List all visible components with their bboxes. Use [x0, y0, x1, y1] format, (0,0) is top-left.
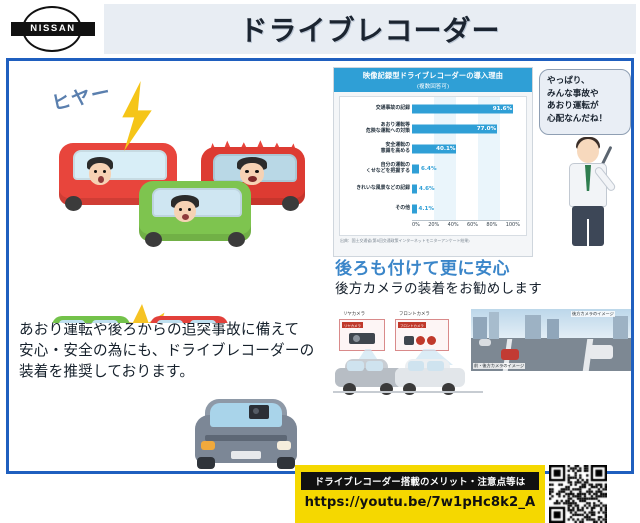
speech-bubble: やっぱり、 みんな事故や あおり運転が 心配なんだね！: [539, 69, 631, 135]
chart-bar-track: 77.0%: [412, 121, 526, 137]
car-with-dashcam: [191, 397, 301, 469]
nissan-wordmark: NISSAN: [11, 22, 95, 36]
chart-x-axis: 0%20%40%60%80%100%: [412, 222, 520, 234]
chart-bar: [412, 205, 417, 214]
page-title: ドライブレコーダー: [239, 9, 500, 49]
chart-card: 映像記録型ドライブレコーダーの導入理由 (複数回答可) 交通事故の記録91.6%…: [333, 67, 533, 257]
green-car-scared: [139, 181, 251, 241]
chart-bar-row: 交通事故の記録91.6%: [340, 101, 526, 117]
chart-bar-row: 安全運転の意識を高める40.1%: [340, 141, 526, 157]
bubble-line-3: あおり運転が: [547, 100, 626, 113]
chart-bar-row: その他4.1%: [340, 201, 526, 217]
title-bar: ドライブレコーダー: [104, 4, 636, 54]
page-header: NISSAN ドライブレコーダー: [0, 0, 640, 58]
chart-bar-value: 4.6%: [419, 186, 435, 192]
chart-plot: 交通事故の記録91.6%あおり運転等危険な運転への対策77.0%安全運転の意識を…: [339, 96, 527, 236]
chart-x-tick: 100%: [506, 222, 520, 234]
chart-x-tick: 0%: [412, 222, 420, 234]
front-camera-callout: フロントカメラ: [395, 319, 449, 351]
lightning-bolt-icon: [114, 81, 160, 151]
rear-camera-label: リヤカメラ: [343, 311, 365, 317]
presenter-figure: [557, 139, 619, 255]
chart-bar-track: 4.6%: [412, 181, 526, 197]
dashcam-device-icon: [249, 405, 269, 419]
chart-bar-row: あおり運転等危険な運転への対策77.0%: [340, 121, 526, 137]
photo-rear-caption: 後方カメラのイメージ: [571, 311, 615, 317]
chart-bar: [412, 185, 417, 194]
chart-bar-value: 4.1%: [419, 206, 435, 212]
chart-x-tick: 20%: [428, 222, 439, 234]
rear-camera-tag: リヤカメラ: [342, 322, 363, 328]
chart-bar-label: 交通事故の記録: [340, 106, 412, 112]
chart-bar-track: 40.1%: [412, 141, 526, 157]
chart-bar-label: その他: [340, 206, 412, 212]
chart-bar-track: 91.6%: [412, 101, 526, 117]
chart-bar: [412, 165, 419, 174]
chart-bar-value: 77.0%: [477, 126, 496, 132]
main-panel: ヒヤー: [6, 58, 634, 474]
chart-x-tick: 60%: [467, 222, 478, 234]
copy-line-3: 装着を推奨しております。: [19, 361, 337, 382]
mid-headline-secondary: 後方カメラの装着をお勧めします: [335, 281, 635, 298]
green-car-collision: [33, 316, 151, 323]
bubble-line-4: 心配なんだね！: [547, 113, 626, 126]
video-banner[interactable]: ドライブレコーダー搭載のメリット・注意点等は https://youtu.be/…: [295, 465, 545, 523]
chart-bar-value: 6.4%: [421, 166, 437, 172]
photo-rear-camera: 後方カメラのイメージ: [545, 309, 631, 371]
photo-dual-camera: 前・後方カメラのイメージ: [471, 309, 545, 371]
front-camera-tag: フロントカメラ: [398, 322, 426, 328]
chart-source: 出典：国土交通省(第8回交通政策インターネットモニターアンケート結果): [334, 236, 532, 243]
chart-bar-track: 6.4%: [412, 161, 526, 177]
chart-bar-track: 4.1%: [412, 201, 526, 217]
chart-bar-label: 自分の運転のくせなどを把握する: [340, 163, 412, 174]
vehicle-rear-view: [335, 359, 403, 391]
chart-bar-value: 91.6%: [493, 106, 512, 112]
chart-bar-row: きれいな風景などの記録4.6%: [340, 181, 526, 197]
bubble-line-2: みんな事故や: [547, 88, 626, 101]
chart-bar-value: 40.1%: [436, 146, 455, 152]
front-camera-label: フロントカメラ: [399, 311, 430, 317]
chart-x-tick: 40%: [448, 222, 459, 234]
qr-code[interactable]: [549, 465, 607, 523]
chart-bar-row: 自分の運転のくせなどを把握する6.4%: [340, 161, 526, 177]
nissan-logo: NISSAN: [6, 4, 100, 54]
banner-headline: ドライブレコーダー搭載のメリット・注意点等は: [301, 472, 539, 490]
chart-bar-label: あおり運転等危険な運転への対策: [340, 123, 412, 134]
chart-bar-label: 安全運転の意識を高める: [340, 143, 412, 154]
chart-header: 映像記録型ドライブレコーダーの導入理由 (複数回答可): [334, 68, 532, 92]
rear-camera-callout: リヤカメラ: [339, 319, 385, 351]
camera-diagram: リヤカメラ リヤカメラ フロントカメラ フロントカメラ: [333, 307, 483, 397]
chart-title: 映像記録型ドライブレコーダーの導入理由: [336, 71, 530, 81]
body-copy: あおり運転や後ろからの追突事故に備えて 安心・安全の為にも、ドライブレコーダーの…: [19, 319, 337, 382]
chart-axis-line: [412, 220, 520, 221]
shout-text: ヒヤー: [49, 77, 113, 116]
photo-dual-caption: 前・後方カメラのイメージ: [473, 363, 525, 369]
chart-bar-label: きれいな風景などの記録: [340, 186, 412, 192]
chart-subtitle: (複数回答可): [336, 82, 530, 90]
illustration-area: ヒヤー: [11, 61, 331, 323]
vehicle-front-view: [395, 359, 465, 391]
mid-headline-primary: 後ろも付けて更に安心: [335, 259, 635, 280]
banner-url[interactable]: https://youtu.be/7w1pHc8k2_A: [295, 495, 545, 510]
mid-headline: 後ろも付けて更に安心 後方カメラの装着をお勧めします: [335, 259, 635, 298]
copy-line-2: 安心・安全の為にも、ドライブレコーダーの: [19, 340, 337, 361]
bubble-line-1: やっぱり、: [547, 75, 626, 88]
brand-text: NISSAN: [30, 24, 76, 34]
chart-x-tick: 80%: [486, 222, 497, 234]
